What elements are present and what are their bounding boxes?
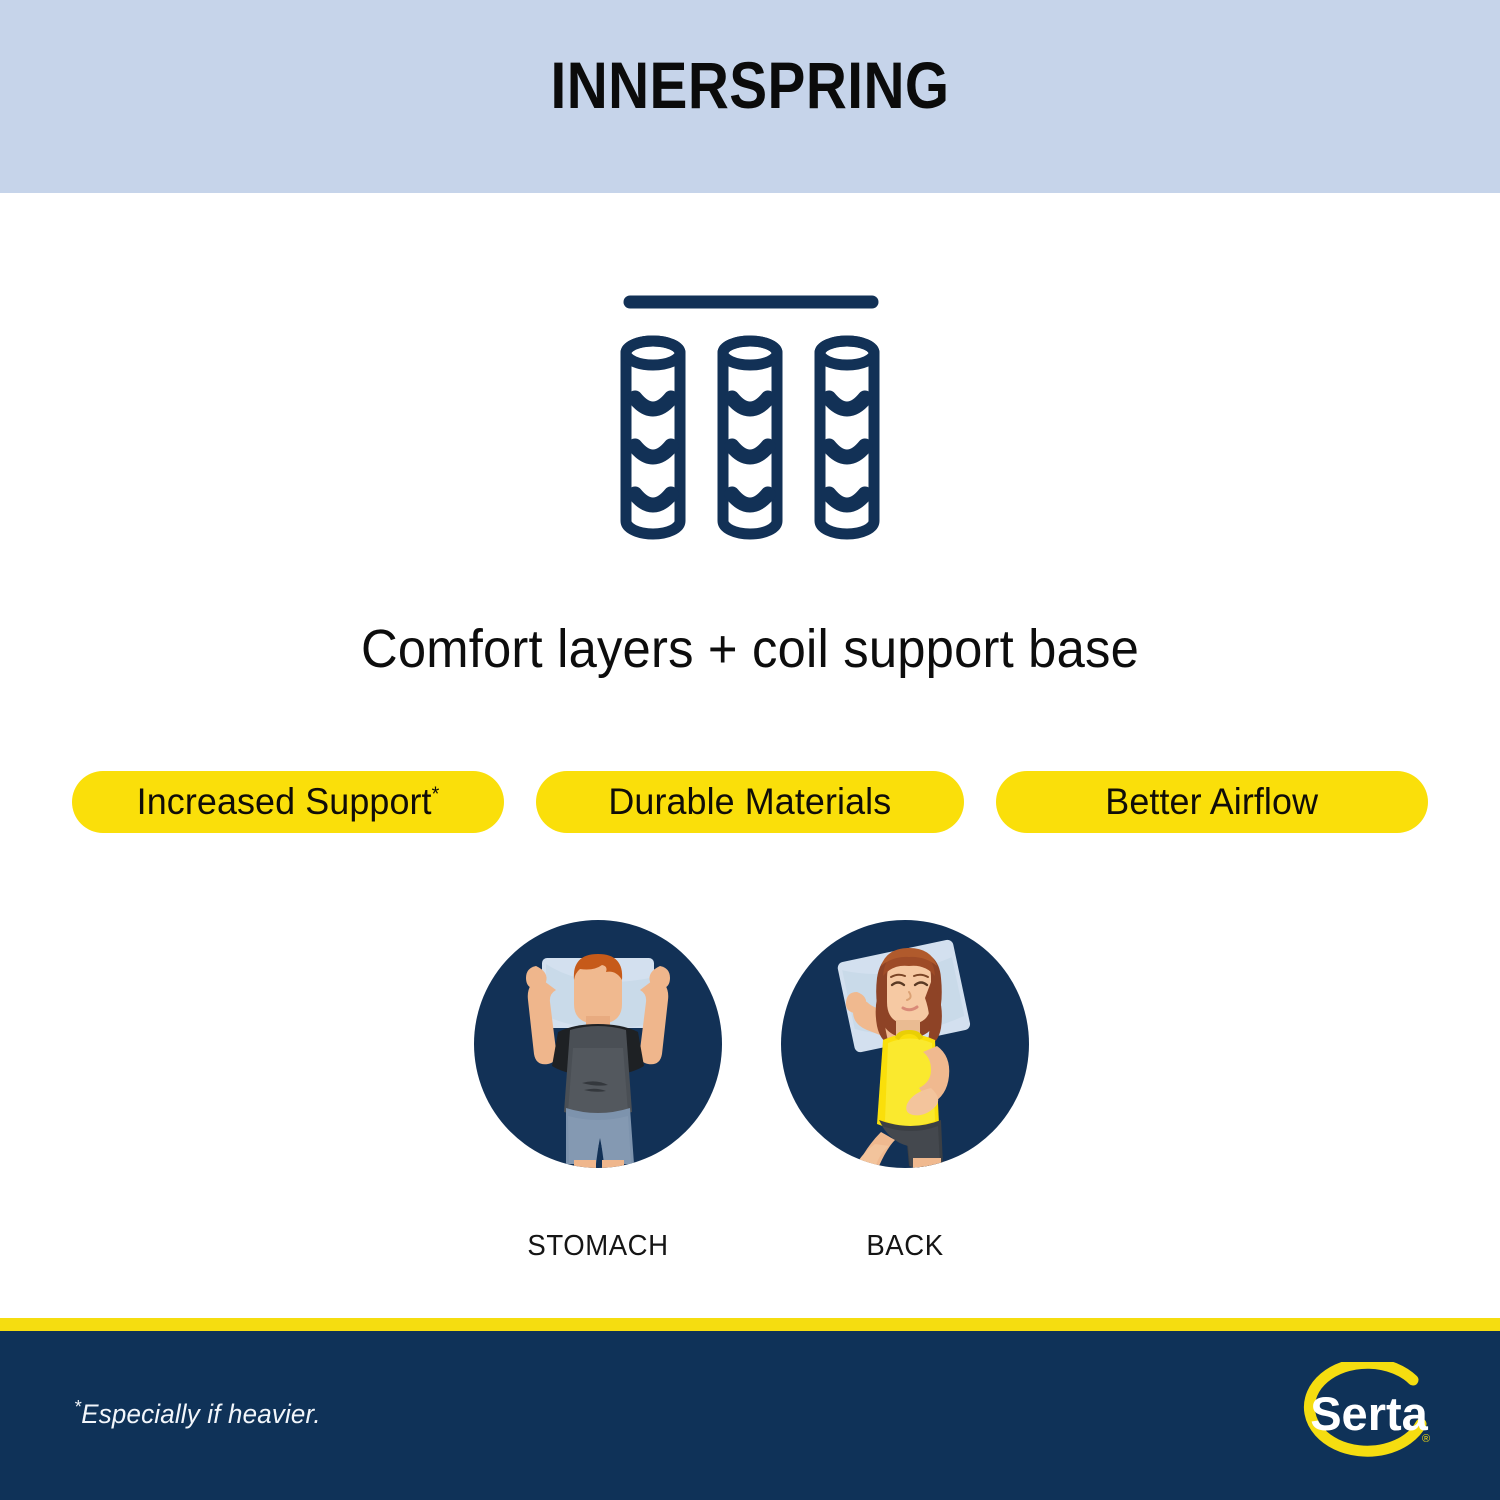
benefit-pill-text: Increased Support — [137, 781, 432, 822]
infographic-page: INNERSPRING — [0, 0, 1500, 1500]
page-title: INNERSPRING — [105, 52, 1395, 118]
benefit-pill-durable-materials[interactable]: Durable Materials — [536, 771, 964, 833]
back-sleeper-illustration — [781, 920, 1029, 1168]
header-band: INNERSPRING — [0, 0, 1500, 193]
hero-subtitle: Comfort layers + coil support base — [45, 620, 1455, 679]
benefit-pill-label: Better Airflow — [1106, 781, 1319, 823]
benefit-pill-label: Durable Materials — [609, 781, 892, 823]
sleep-position-back[interactable]: BACK — [775, 920, 1035, 1263]
sleep-position-label: BACK — [782, 1230, 1029, 1263]
benefit-pill-better-airflow[interactable]: Better Airflow — [996, 771, 1428, 833]
footnote-text: *Especially if heavier. — [74, 1399, 321, 1430]
serta-wordmark: Serta — [1310, 1387, 1428, 1440]
serta-logo[interactable]: Serta ® — [1295, 1362, 1447, 1472]
stomach-sleeper-illustration — [474, 920, 722, 1168]
footnote-body: Especially if heavier. — [81, 1399, 321, 1429]
benefit-pill-label: Increased Support* — [137, 781, 440, 823]
benefit-pill-text: Durable Materials — [609, 781, 892, 822]
footnote-marker: * — [432, 784, 440, 806]
registered-trademark-mark: ® — [1422, 1433, 1430, 1445]
footer-accent-stripe — [0, 1318, 1500, 1331]
benefit-pill-text: Better Airflow — [1106, 781, 1319, 822]
sleep-position-stomach[interactable]: STOMACH — [468, 920, 728, 1263]
footnote-asterisk: * — [74, 1397, 81, 1418]
sleep-position-label: STOMACH — [475, 1230, 722, 1263]
sleep-position-row: STOMACH — [0, 920, 1500, 1290]
benefit-pill-increased-support[interactable]: Increased Support* — [72, 771, 504, 833]
benefit-pill-row: Increased Support* Durable Materials Bet… — [72, 771, 1428, 833]
coil-stack-icon — [600, 285, 900, 560]
